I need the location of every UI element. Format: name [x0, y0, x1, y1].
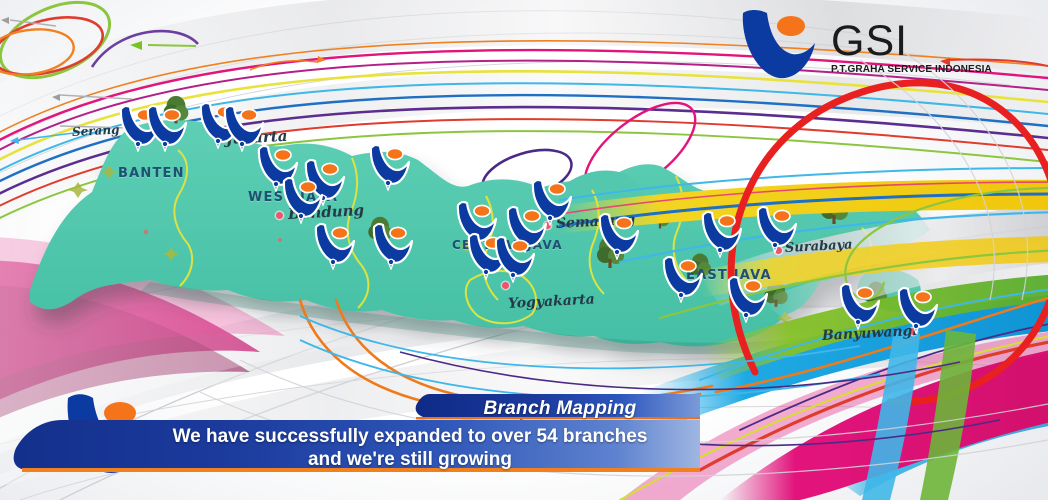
branch-pin[interactable]: [661, 255, 703, 303]
branch-pin[interactable]: [371, 222, 413, 270]
branch-pin[interactable]: [726, 275, 768, 323]
branch-pin[interactable]: [838, 282, 880, 330]
banner-line-2: and we're still growing: [150, 448, 670, 471]
branch-pin[interactable]: [368, 143, 410, 191]
branch-pin[interactable]: [281, 176, 323, 224]
branch-pin[interactable]: [896, 286, 938, 334]
logo-title: GSI: [831, 21, 999, 62]
branch-pin[interactable]: [493, 235, 535, 283]
branch-pin[interactable]: [755, 205, 797, 253]
banner-title: Branch Mapping: [470, 398, 650, 420]
branch-pin[interactable]: [597, 212, 639, 260]
branch-pin[interactable]: [313, 222, 355, 270]
banner-line-1: We have successfully expanded to over 54…: [173, 426, 648, 447]
branch-mapping-poster: BANTENWEST JAVACENTRAL JAVAEAST JAVASera…: [0, 0, 1048, 500]
gsi-logo: GSI P.T.GRAHA SERVICE INDONESIA: [735, 2, 997, 90]
banner-body: We have successfully expanded to over 54…: [150, 425, 670, 471]
branch-pin[interactable]: [145, 104, 187, 152]
branch-pin[interactable]: [530, 178, 572, 226]
branch-pin[interactable]: [700, 210, 742, 258]
logo-subtitle: P.T.GRAHA SERVICE INDONESIA: [831, 63, 992, 75]
gsi-swoosh-icon: [735, 7, 827, 85]
